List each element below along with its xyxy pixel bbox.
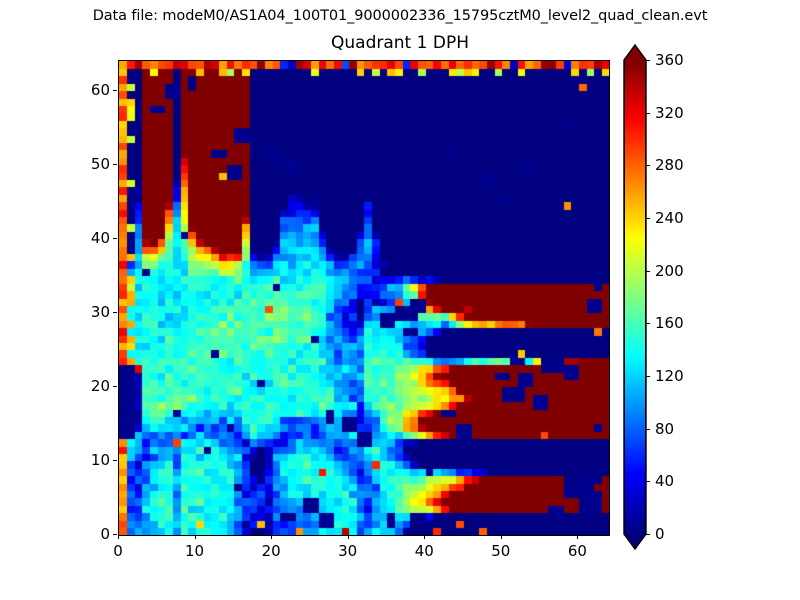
colorbar-tick-mark: [646, 271, 650, 272]
colorbar-tick-mark: [646, 165, 650, 166]
colorbar-tick-mark: [646, 481, 650, 482]
x-tick-mark: [424, 535, 425, 539]
y-tick-label: 10: [70, 451, 110, 469]
x-tick-mark: [501, 535, 502, 539]
x-tick-label: 20: [262, 542, 281, 560]
data-file-label: Data file: modeM0/AS1A04_100T01_90000023…: [0, 8, 800, 24]
colorbar-tick-label: 240: [655, 209, 684, 227]
y-tick-label: 60: [70, 81, 110, 99]
y-tick-mark: [113, 164, 117, 165]
colorbar-tick-label: 80: [655, 420, 674, 438]
colorbar: [624, 60, 646, 534]
y-tick-label: 20: [70, 377, 110, 395]
x-tick-label: 60: [568, 542, 587, 560]
y-tick-mark: [113, 534, 117, 535]
colorbar-tick-mark: [646, 429, 650, 430]
colorbar-tick-label: 160: [655, 314, 684, 332]
x-tick-label: 40: [415, 542, 434, 560]
y-tick-mark: [113, 460, 117, 461]
y-tick-label: 30: [70, 303, 110, 321]
x-tick-mark: [348, 535, 349, 539]
x-tick-label: 10: [185, 542, 204, 560]
x-tick-label: 30: [338, 542, 357, 560]
colorbar-tick-mark: [646, 113, 650, 114]
y-tick-mark: [113, 386, 117, 387]
colorbar-tick-mark: [646, 218, 650, 219]
x-tick-mark: [195, 535, 196, 539]
x-tick-label: 50: [491, 542, 510, 560]
y-tick-label: 40: [70, 229, 110, 247]
colorbar-tick-label: 0: [655, 525, 665, 543]
colorbar-tick-label: 280: [655, 156, 684, 174]
y-tick-mark: [113, 90, 117, 91]
colorbar-tick-label: 120: [655, 367, 684, 385]
x-tick-label: 0: [113, 542, 123, 560]
colorbar-gradient: [624, 60, 646, 534]
colorbar-extend-top-arrow: [624, 45, 646, 60]
colorbar-tick-mark: [646, 534, 650, 535]
y-tick-mark: [113, 312, 117, 313]
y-tick-mark: [113, 238, 117, 239]
colorbar-tick-mark: [646, 60, 650, 61]
heatmap-axes: [118, 60, 610, 536]
colorbar-extend-bottom-arrow: [624, 534, 646, 549]
y-tick-label: 50: [70, 155, 110, 173]
colorbar-tick-label: 200: [655, 262, 684, 280]
colorbar-tick-mark: [646, 323, 650, 324]
x-tick-mark: [577, 535, 578, 539]
colorbar-tick-mark: [646, 376, 650, 377]
heatmap-image: [119, 61, 609, 535]
page-title: Quadrant 1 DPH: [0, 33, 800, 53]
x-tick-mark: [118, 535, 119, 539]
x-tick-mark: [271, 535, 272, 539]
figure-canvas: Data file: modeM0/AS1A04_100T01_90000023…: [0, 0, 800, 600]
colorbar-tick-label: 320: [655, 104, 684, 122]
colorbar-tick-label: 40: [655, 472, 674, 490]
y-tick-label: 0: [70, 525, 110, 543]
colorbar-tick-label: 360: [655, 51, 684, 69]
